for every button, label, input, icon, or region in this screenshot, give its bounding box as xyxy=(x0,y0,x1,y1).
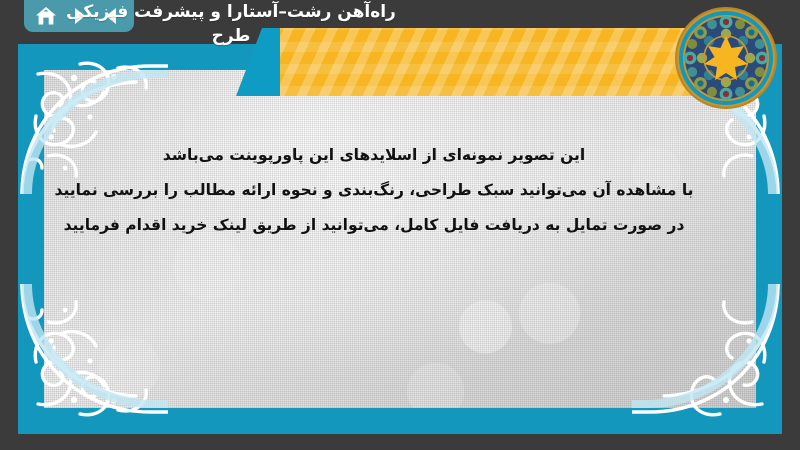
body-line-3: در صورت تمایل به دریافت فایل کامل، می‌تو… xyxy=(18,208,730,243)
body-line-1: این تصویر نمونه‌ای از اسلایدهای این پاور… xyxy=(18,138,730,173)
slide-viewer: این تصویر نمونه‌ای از اسلایدهای این پاور… xyxy=(0,0,800,450)
body-line-2: با مشاهده آن می‌توانید سبک طراحی، رنگ‌بن… xyxy=(18,173,730,208)
slide-body-text: این تصویر نمونه‌ای از اسلایدهای این پاور… xyxy=(18,138,730,243)
slide-frame: این تصویر نمونه‌ای از اسلایدهای این پاور… xyxy=(18,44,782,434)
page-title: ارزیابی تملک ۲۸۵ هکتار از اراضی پروژه را… xyxy=(0,0,452,48)
islamic-mandala-medallion xyxy=(674,6,778,110)
